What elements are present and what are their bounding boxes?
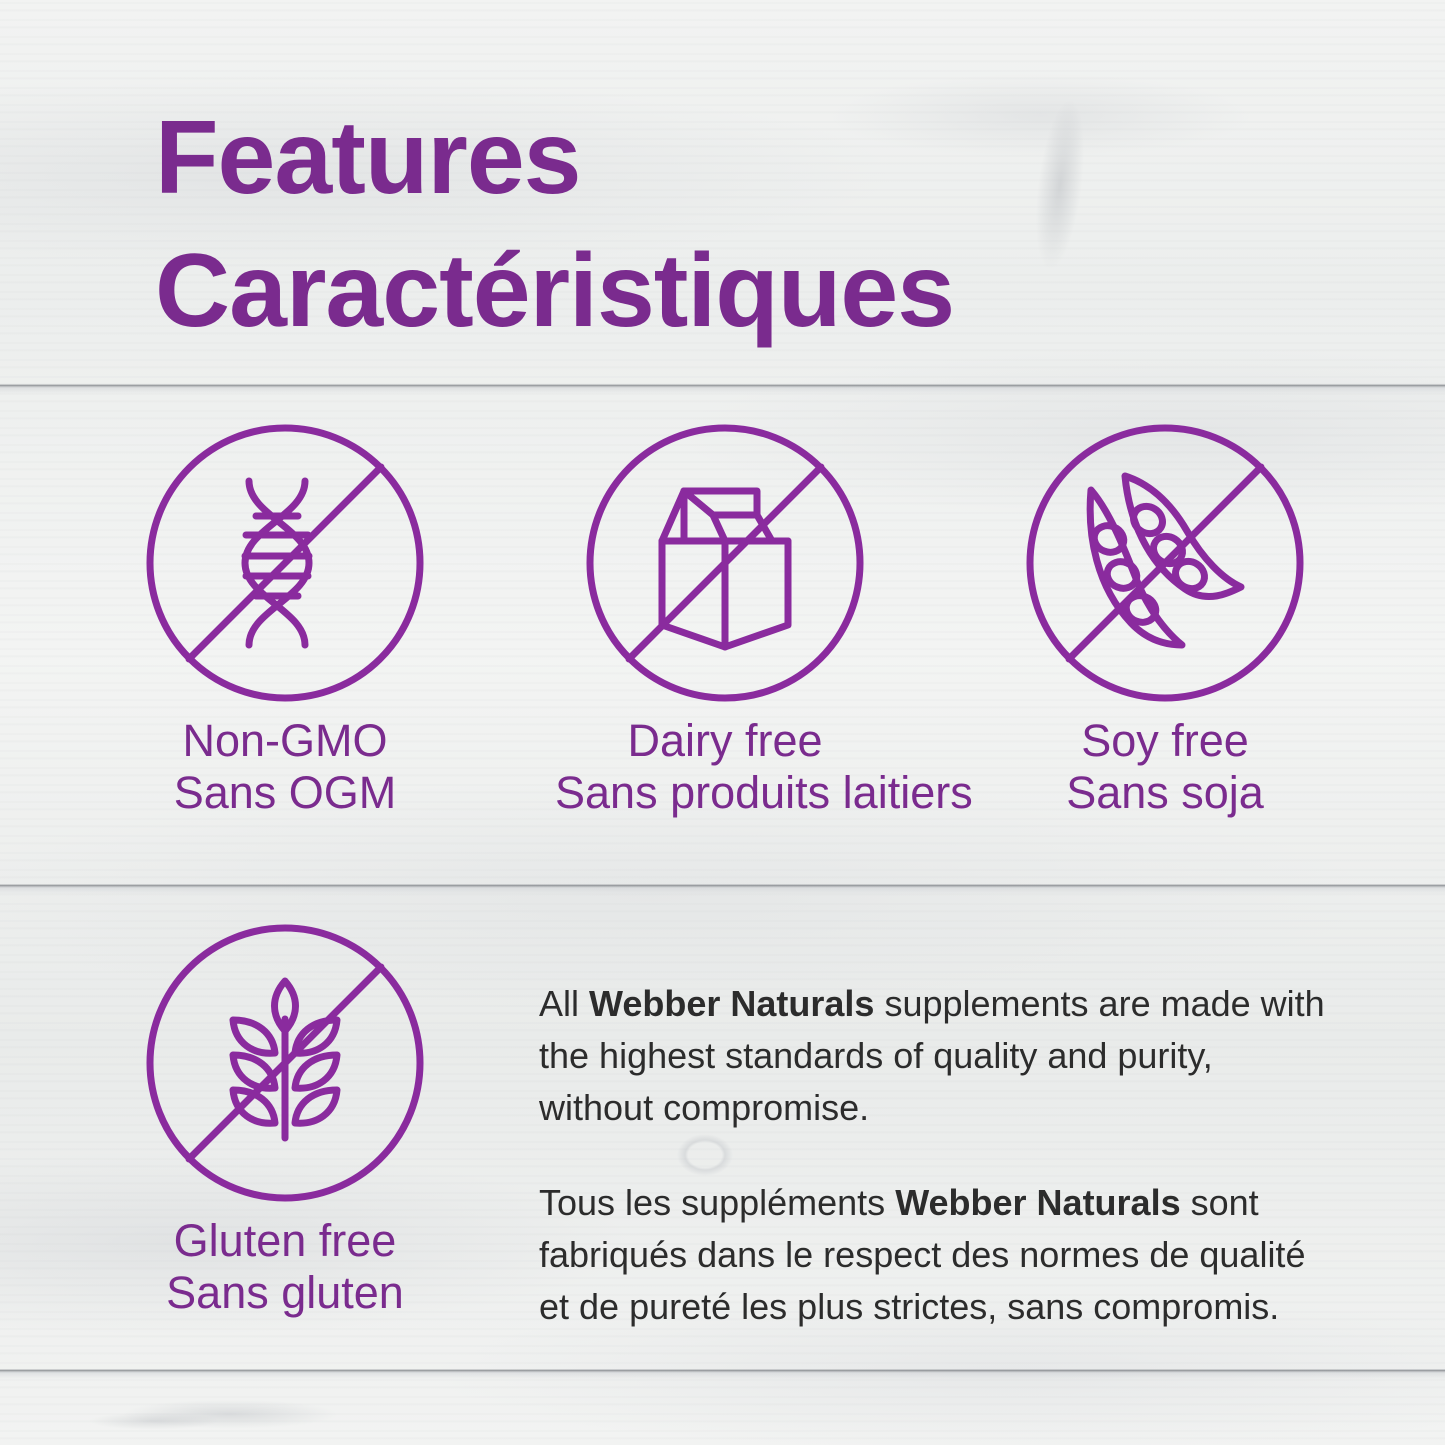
feature-label-gluten-free: Gluten free Sans gluten (115, 1215, 455, 1319)
feature-label-dairy-free-fr: Sans produits laitiers (555, 767, 895, 819)
body-en-before-brand: All (539, 983, 589, 1024)
no-gluten-wheat-icon (145, 923, 425, 1203)
feature-panel: Features Caractéristiques (0, 0, 1445, 1445)
feature-soy-free: Soy free Sans soja (995, 423, 1335, 819)
body-copy: All Webber Naturals supplements are made… (539, 978, 1329, 1333)
page-title-fr: Caractéristiques (155, 225, 954, 358)
body-paragraph-fr: Tous les suppléments Webber Naturals son… (539, 1177, 1329, 1334)
feature-label-non-gmo: Non-GMO Sans OGM (115, 715, 455, 819)
no-dairy-milk-carton-icon (585, 423, 865, 703)
feature-label-dairy-free: Dairy free Sans produits laitiers (555, 715, 895, 819)
feature-dairy-free: Dairy free Sans produits laitiers (555, 423, 895, 819)
feature-label-soy-free: Soy free Sans soja (995, 715, 1335, 819)
feature-label-soy-free-en: Soy free (1081, 715, 1249, 766)
brand-name-en: Webber Naturals (589, 983, 874, 1024)
page-title: Features Caractéristiques (155, 92, 954, 358)
feature-label-dairy-free-en: Dairy free (627, 715, 822, 766)
feature-gluten-free: Gluten free Sans gluten (115, 923, 455, 1319)
feature-non-gmo: Non-GMO Sans OGM (115, 423, 455, 819)
page-title-en: Features (155, 92, 954, 225)
body-paragraph-en: All Webber Naturals supplements are made… (539, 978, 1329, 1135)
feature-label-non-gmo-fr: Sans OGM (115, 767, 455, 819)
feature-label-gluten-free-en: Gluten free (174, 1215, 397, 1266)
feature-label-gluten-free-fr: Sans gluten (115, 1267, 455, 1319)
feature-label-soy-free-fr: Sans soja (995, 767, 1335, 819)
feature-label-non-gmo-en: Non-GMO (182, 715, 387, 766)
no-gmo-dna-icon (145, 423, 425, 703)
body-fr-before-brand: Tous les suppléments (539, 1182, 895, 1223)
no-soy-pods-icon (1025, 423, 1305, 703)
brand-name-fr: Webber Naturals (895, 1182, 1180, 1223)
